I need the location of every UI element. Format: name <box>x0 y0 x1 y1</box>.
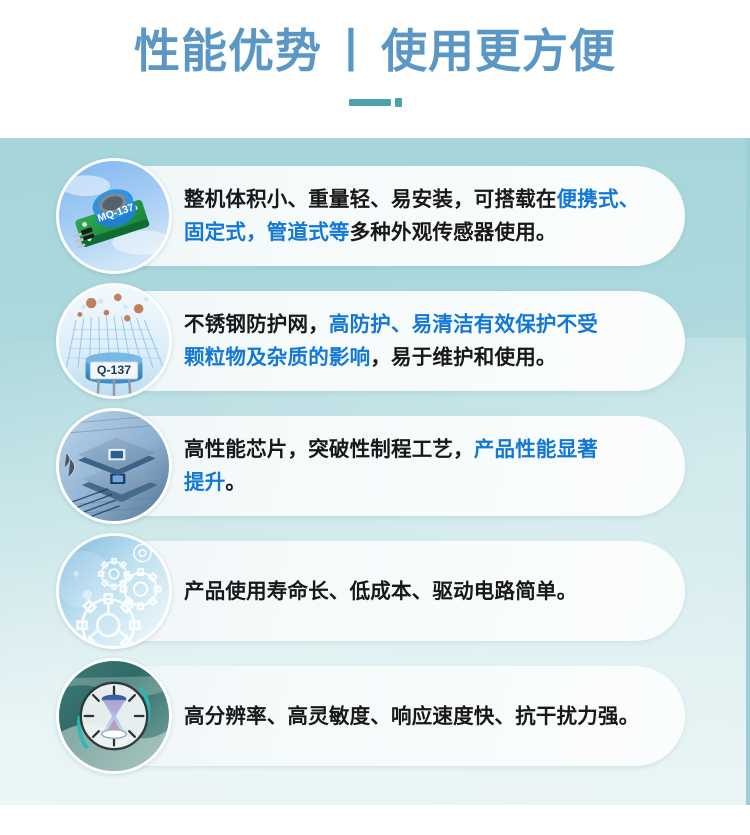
text-run: 多种外观传感器使用。 <box>350 221 557 244</box>
feature-card: 高分辨率、高灵敏度、响应速度快、抗干扰力强。 <box>62 666 685 766</box>
svg-text:Q-137: Q-137 <box>97 363 131 377</box>
text-run: 。 <box>225 471 246 494</box>
feature-line: 固定式，管道式等多种外观传感器使用。 <box>184 216 669 249</box>
title-divider <box>0 95 750 109</box>
hourglass-clock-icon <box>56 658 172 774</box>
feature-card: MQ-137 整机体积小、重量轻、易安装，可搭载在便携式、 固定式，管道式等多种… <box>62 166 685 266</box>
text-run: 高性能芯片，突破性制程工艺， <box>184 438 474 461</box>
feature-card-text: 整机体积小、重量轻、易安装，可搭载在便携式、 固定式，管道式等多种外观传感器使用… <box>184 166 669 266</box>
text-run-highlight: 固定式，管道式等 <box>184 221 350 244</box>
feature-card: Q-137 不锈钢防护网，高防护、易清洁有效保护不受 颗粒物及杂质的影响，易于维… <box>62 291 685 391</box>
text-run-highlight: 提升 <box>184 471 225 494</box>
feature-line: 高分辨率、高灵敏度、响应速度快、抗干扰力强。 <box>184 700 669 733</box>
text-run: ，易于维护和使用。 <box>370 346 556 369</box>
mq137-sensor-module-icon: MQ-137 <box>56 158 172 274</box>
stainless-mesh-sensor-icon: Q-137 <box>56 283 172 399</box>
feature-line: 不锈钢防护网，高防护、易清洁有效保护不受 <box>184 308 669 341</box>
page-title-separator: 丨 <box>322 22 381 80</box>
promo-page: 性能优势丨使用更方便 <box>0 0 750 835</box>
feature-line: 颗粒物及杂质的影响，易于维护和使用。 <box>184 341 669 374</box>
semiconductor-chip-icon <box>56 408 172 524</box>
feature-card-text: 高分辨率、高灵敏度、响应速度快、抗干扰力强。 <box>184 666 669 766</box>
page-title: 性能优势丨使用更方便 <box>0 22 750 80</box>
divider-dot-icon <box>395 98 402 107</box>
feature-card-text: 产品使用寿命长、低成本、驱动电路简单。 <box>184 541 669 641</box>
page-title-right: 使用更方便 <box>381 25 616 77</box>
feature-card: 产品使用寿命长、低成本、驱动电路简单。 <box>62 541 685 641</box>
feature-line: 产品使用寿命长、低成本、驱动电路简单。 <box>184 575 669 608</box>
feature-card: 高性能芯片，突破性制程工艺，产品性能显著 提升。 <box>62 416 685 516</box>
text-run: 产品使用寿命长、低成本、驱动电路简单。 <box>184 580 577 603</box>
divider-bar-icon <box>349 99 391 106</box>
text-run-highlight: 便携式、 <box>557 188 640 211</box>
text-run: 整机体积小、重量轻、易安装，可搭载在 <box>184 188 557 211</box>
feature-line: 提升。 <box>184 466 669 499</box>
text-run-highlight: 颗粒物及杂质的影响 <box>184 346 370 369</box>
header: 性能优势丨使用更方便 <box>0 0 750 138</box>
gears-icon <box>56 533 172 649</box>
text-run-highlight: 产品性能显著 <box>474 438 598 461</box>
feature-card-list: MQ-137 整机体积小、重量轻、易安装，可搭载在便携式、 固定式，管道式等多种… <box>0 138 750 805</box>
feature-card-text: 高性能芯片，突破性制程工艺，产品性能显著 提升。 <box>184 416 669 516</box>
feature-panel: MQ-137 整机体积小、重量轻、易安装，可搭载在便携式、 固定式，管道式等多种… <box>0 138 750 805</box>
text-run: 高分辨率、高灵敏度、响应速度快、抗干扰力强。 <box>184 705 639 728</box>
text-run: 不锈钢防护网， <box>184 313 329 336</box>
feature-line: 高性能芯片，突破性制程工艺，产品性能显著 <box>184 433 669 466</box>
feature-line: 整机体积小、重量轻、易安装，可搭载在便携式、 <box>184 183 669 216</box>
feature-card-text: 不锈钢防护网，高防护、易清洁有效保护不受 颗粒物及杂质的影响，易于维护和使用。 <box>184 291 669 391</box>
text-run-highlight: 高防护、易清洁有效保护不受 <box>329 313 598 336</box>
page-title-left: 性能优势 <box>134 25 322 77</box>
